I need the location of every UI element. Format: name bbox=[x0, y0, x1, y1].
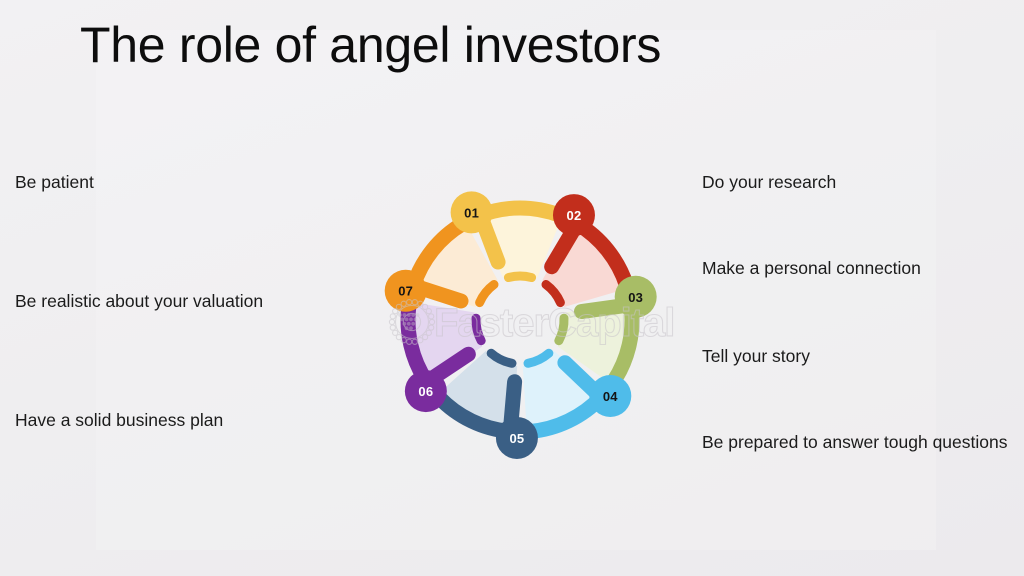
wheel-segment-inner-dash-03 bbox=[559, 318, 564, 341]
wheel-label-be-realistic-about-your-valuation: Be realistic about your valuation bbox=[15, 290, 345, 313]
wheel-label-do-your-research: Do your research bbox=[702, 171, 1020, 194]
page-title: The role of angel investors bbox=[80, 14, 880, 76]
wheel-label-tell-your-story: Tell your story bbox=[702, 345, 1020, 368]
wheel-label-make-a-personal-connection: Make a personal connection bbox=[702, 257, 1020, 280]
wheel-segment-inner-dash-01 bbox=[508, 276, 531, 278]
wheel-badge-number-03: 03 bbox=[628, 290, 643, 305]
wheel-badge-number-06: 06 bbox=[418, 384, 433, 399]
wheel-badge-number-01: 01 bbox=[464, 205, 479, 220]
wheel-label-be-patient: Be patient bbox=[15, 171, 345, 194]
wheel-label-be-prepared-to-answer-tough-questions: Be prepared to answer tough questions bbox=[702, 431, 1020, 454]
slide-canvas: The role of angel investors Be patient B… bbox=[0, 0, 1024, 576]
wheel-badge-number-04: 04 bbox=[603, 389, 618, 404]
wheel-segment-inner-dash-06 bbox=[476, 318, 481, 341]
wheel-badge-number-07: 07 bbox=[398, 284, 413, 299]
wheel-label-have-a-solid-business-plan: Have a solid business plan bbox=[15, 409, 345, 432]
wheel-badge-number-02: 02 bbox=[567, 208, 582, 223]
wheel-badge-number-05: 05 bbox=[509, 431, 524, 446]
segmented-wheel-diagram: 01020304050607 bbox=[352, 152, 688, 488]
